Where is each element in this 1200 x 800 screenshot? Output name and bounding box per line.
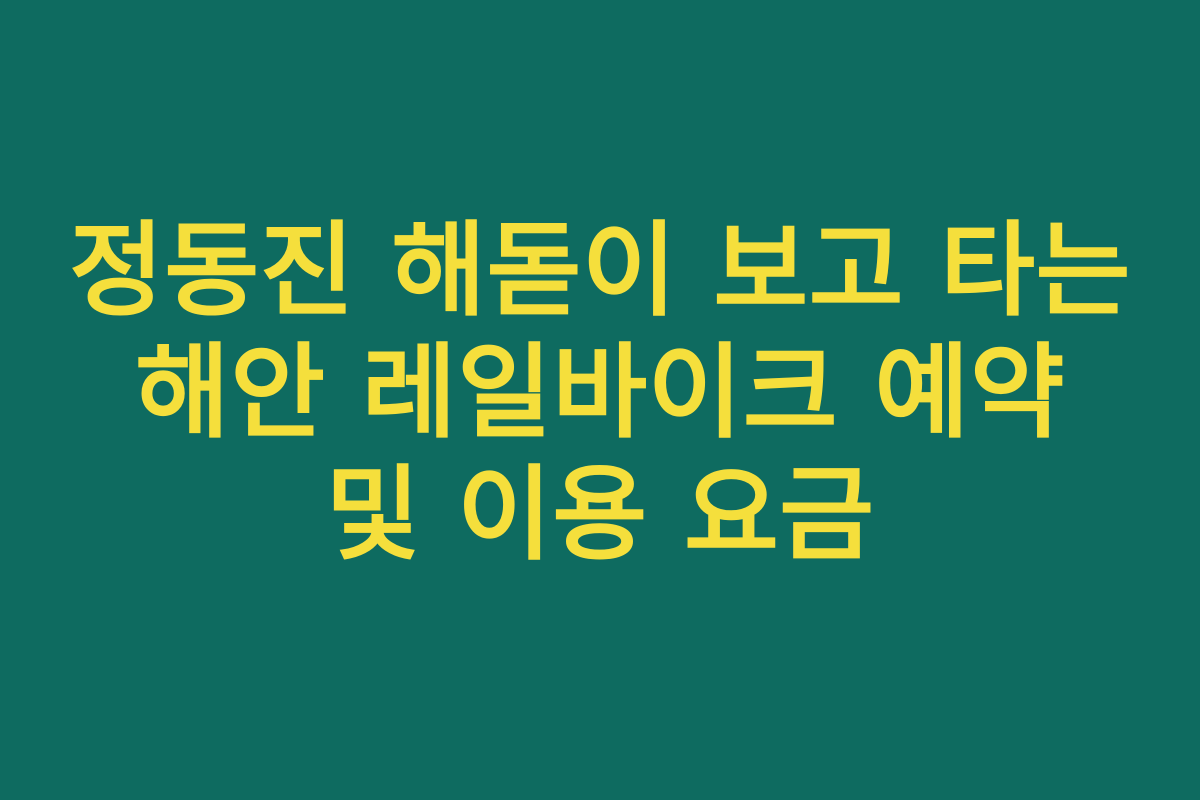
title-line-1: 정동진 해돋이 보고 타는 [20, 210, 1180, 332]
title-line-3: 및 이용 요금 [20, 454, 1180, 576]
title-text-block: 정동진 해돋이 보고 타는 해안 레일바이크 예약 및 이용 요금 [20, 210, 1180, 576]
title-card: 정동진 해돋이 보고 타는 해안 레일바이크 예약 및 이용 요금 [0, 0, 1200, 800]
title-line-2: 해안 레일바이크 예약 [20, 332, 1180, 454]
